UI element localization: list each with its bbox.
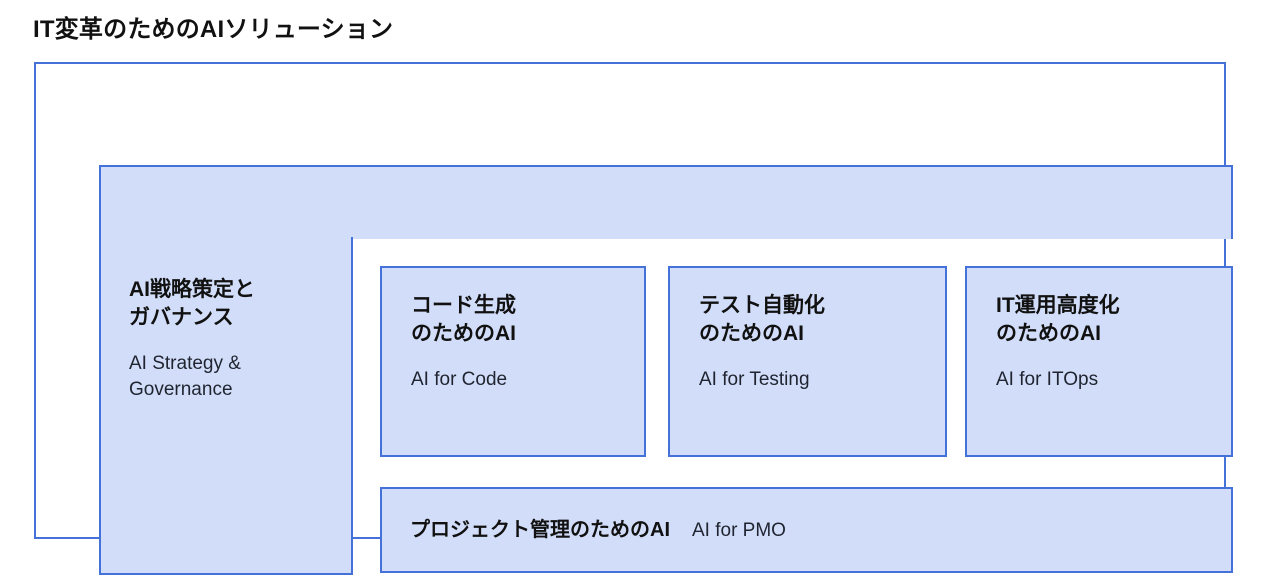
- card-title-jp: IT運用高度化 のためのAI: [996, 292, 1219, 347]
- card-title-jp: コード生成 のためのAI: [411, 292, 632, 347]
- card-subtitle-en: AI for Testing: [699, 367, 933, 392]
- bar-ai-for-pmo[interactable]: プロジェクト管理のためのAI AI for PMO: [380, 487, 1233, 573]
- bar-subtitle-en: AI for PMO: [692, 518, 786, 543]
- shaded-backdrop-top-band: [99, 165, 1233, 239]
- pillar-subtitle-en: AI Strategy & Governance: [129, 351, 339, 401]
- card-ai-for-testing[interactable]: テスト自動化 のためのAI AI for Testing: [668, 266, 947, 457]
- shaded-backdrop-seam: [101, 235, 351, 241]
- card-ai-for-code[interactable]: コード生成 のためのAI AI for Code: [380, 266, 646, 457]
- card-ai-for-itops[interactable]: IT運用高度化 のためのAI AI for ITOps: [965, 266, 1233, 457]
- bar-title-jp: プロジェクト管理のためのAI: [410, 517, 670, 543]
- card-subtitle-en: AI for ITOps: [996, 367, 1219, 392]
- card-subtitle-en: AI for Code: [411, 367, 632, 392]
- pillar-title-jp: AI戦略策定と ガバナンス: [129, 276, 339, 331]
- card-title-jp: テスト自動化 のためのAI: [699, 292, 933, 347]
- page-title: IT変革のためのAIソリューション: [33, 9, 393, 44]
- diagram-outer-frame: AI戦略策定と ガバナンス AI Strategy & Governance コ…: [34, 62, 1226, 539]
- pillar-ai-strategy-governance[interactable]: AI戦略策定と ガバナンス AI Strategy & Governance: [129, 276, 339, 402]
